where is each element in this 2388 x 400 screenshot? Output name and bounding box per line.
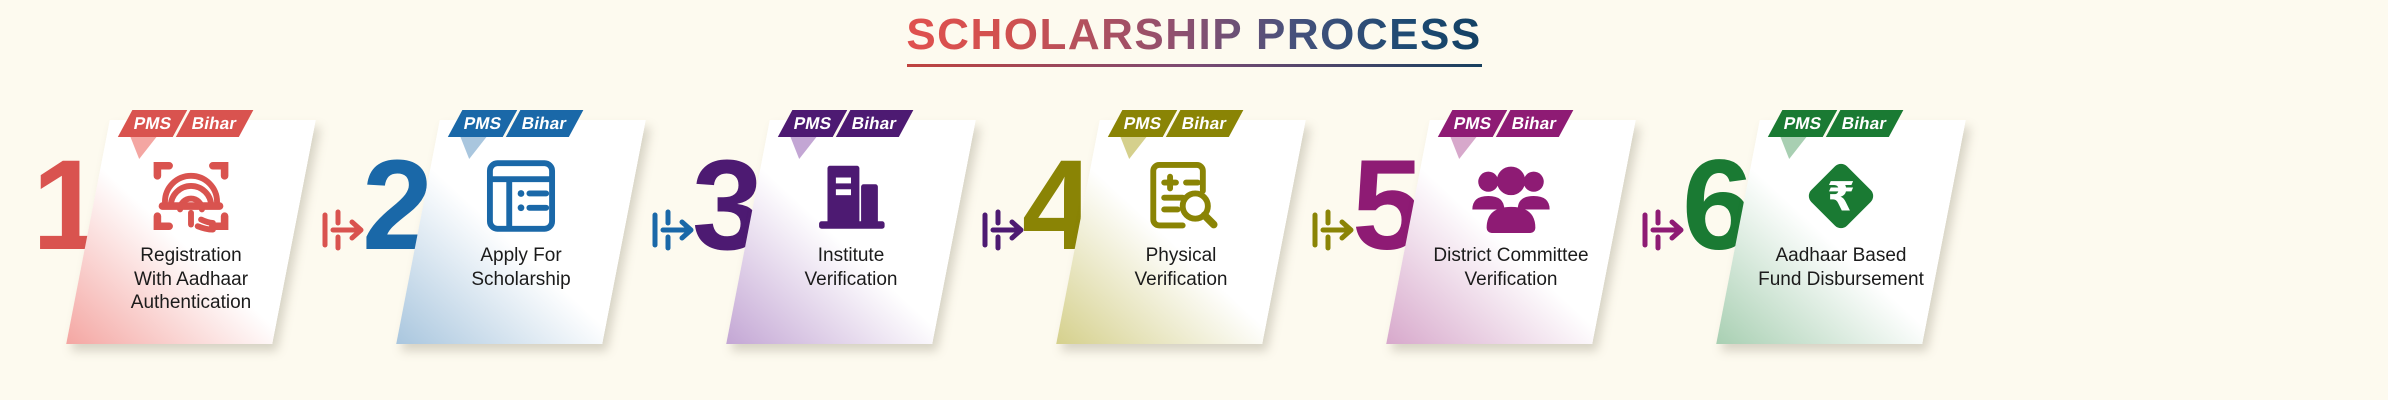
ribbon-pms-text: PMS [792,114,833,134]
ribbon-pms-text: PMS [1452,114,1493,134]
ribbon-bihar-text: Bihar [851,114,899,134]
step-card-content: Registration With Aadhaar Authentication [88,120,294,344]
brand-ribbon: PMSBihar [1438,110,1573,137]
page-title-container: SCHOLARSHIP PROCESS [0,12,2388,67]
step-card[interactable]: Registration With Aadhaar Authentication… [66,120,316,344]
page-title: SCHOLARSHIP PROCESS [906,12,1481,62]
process-step-2[interactable]: 2 Apply For ScholarshipPMSBihar [374,118,642,354]
step-label: Registration With Aadhaar Authentication [96,244,286,315]
step-card[interactable]: Physical VerificationPMSBihar [1056,120,1306,344]
step-card[interactable]: Apply For ScholarshipPMSBihar [396,120,646,344]
ribbon-bihar-text: Bihar [191,114,239,134]
ribbon-pms-text: PMS [462,114,503,134]
fingerprint-scan-icon [149,154,233,238]
step-label: Institute Verification [756,244,946,291]
step-card-content: Apply For Scholarship [418,120,624,344]
committee-people-icon [1469,154,1553,238]
application-form-icon [479,154,563,238]
process-step-6[interactable]: 6 ₹ Aadhaar Based Fund DisbursementPMSBi… [1694,118,1962,354]
brand-ribbon: PMSBihar [448,110,583,137]
step-label: Apply For Scholarship [426,244,616,291]
ribbon-pms-text: PMS [132,114,173,134]
ribbon-bihar-text: Bihar [1181,114,1229,134]
ribbon-bihar-text: Bihar [521,114,569,134]
brand-ribbon: PMSBihar [1108,110,1243,137]
ribbon-bihar-text: Bihar [1511,114,1559,134]
process-step-5[interactable]: 5 District Committee VerificationPMSBiha… [1364,118,1632,354]
ribbon-fold [786,137,816,159]
process-step-4[interactable]: 4 Physical VerificationPMSBihar [1034,118,1302,354]
brand-ribbon: PMSBihar [1768,110,1903,137]
ribbon-fold [456,137,486,159]
institute-building-icon [809,154,893,238]
ribbon-fold [1116,137,1146,159]
step-card-content: ₹ Aadhaar Based Fund Disbursement [1738,120,1944,344]
step-card-content: Institute Verification [748,120,954,344]
step-label: District Committee Verification [1416,244,1606,291]
ribbon-pms-text: PMS [1782,114,1823,134]
title-underline [907,64,1482,67]
process-step-1[interactable]: 1 Registration With Aadhaar Authenticati… [44,118,312,354]
step-card[interactable]: ₹ Aadhaar Based Fund DisbursementPMSBiha… [1716,120,1966,344]
step-label: Physical Verification [1086,244,1276,291]
step-card[interactable]: Institute VerificationPMSBihar [726,120,976,344]
ribbon-fold [1776,137,1806,159]
ribbon-bihar-text: Bihar [1841,114,1889,134]
step-card-content: District Committee Verification [1408,120,1614,344]
step-card-content: Physical Verification [1078,120,1284,344]
scholarship-process-infographic: SCHOLARSHIP PROCESS 1 Registration With … [0,0,2388,400]
rupee-diamond-icon: ₹ [1799,154,1883,238]
step-card[interactable]: District Committee VerificationPMSBihar [1386,120,1636,344]
svg-text:₹: ₹ [1827,173,1855,220]
process-steps-row: 1 Registration With Aadhaar Authenticati… [44,118,1962,354]
clipboard-search-icon [1139,154,1223,238]
process-step-3[interactable]: 3 Institute VerificationPMSBihar [704,118,972,354]
ribbon-fold [126,137,156,159]
step-label: Aadhaar Based Fund Disbursement [1746,244,1936,291]
brand-ribbon: PMSBihar [778,110,913,137]
ribbon-fold [1446,137,1476,159]
brand-ribbon: PMSBihar [118,110,253,137]
ribbon-pms-text: PMS [1122,114,1163,134]
